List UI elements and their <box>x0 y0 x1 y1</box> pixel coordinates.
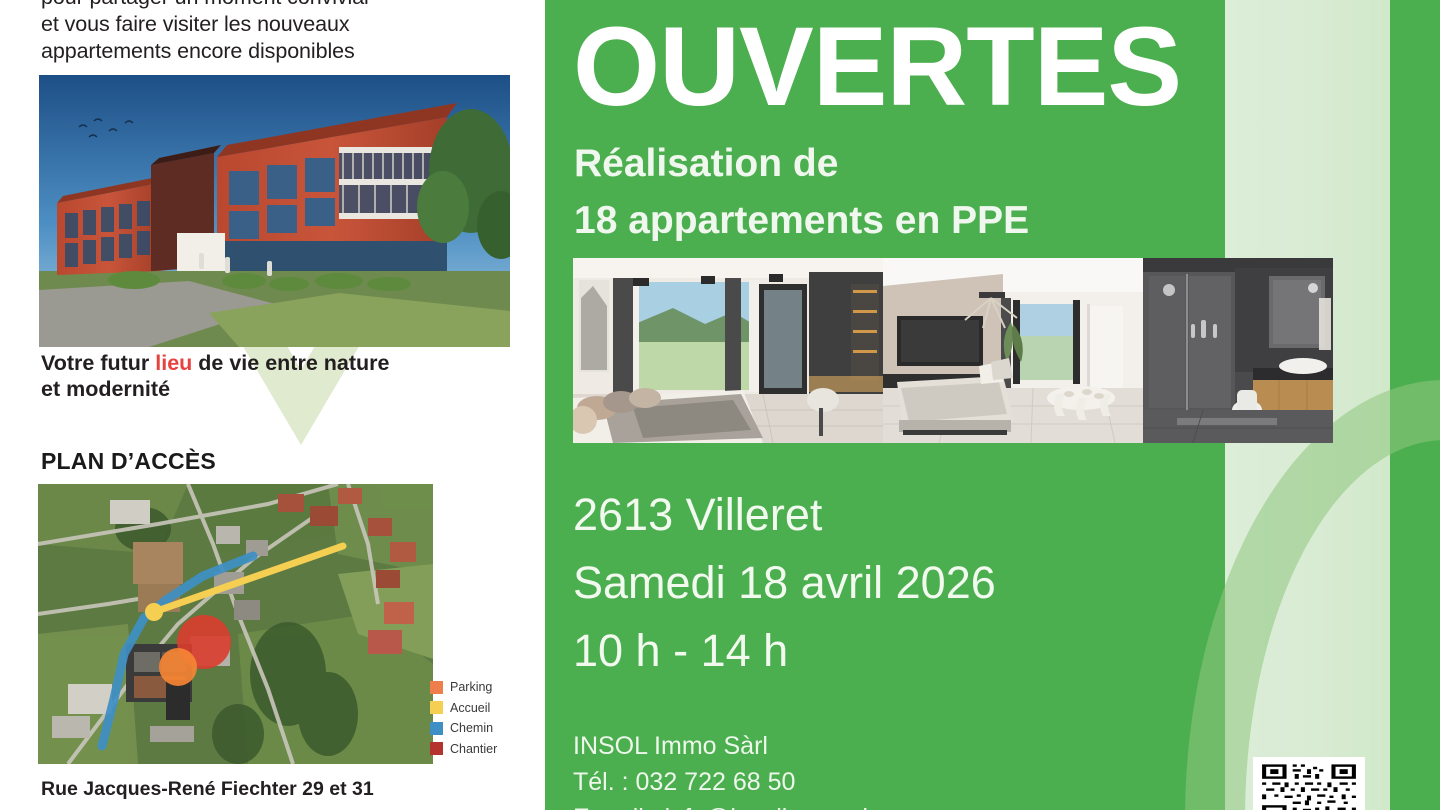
tagline-pre: Votre futur <box>41 351 155 375</box>
map-legend: Parking Accueil Chemin Chantier <box>430 680 540 762</box>
event-location: 2613 Villeret <box>573 481 1373 549</box>
subheadline-line-2: 18 appartements en PPE <box>574 192 1274 249</box>
bathroom-photo <box>1143 258 1333 443</box>
tagline-highlight: lieu <box>155 351 192 375</box>
green-event-panel: PORTES OUVERTES Réalisation de 18 appart… <box>545 0 1440 810</box>
contact-details: INSOL Immo Sàrl Tél. : 032 722 68 50 E-m… <box>573 728 1273 810</box>
section-title-plan-dacces: PLAN D’ACCÈS <box>41 448 216 475</box>
legend-item-parking: Parking <box>430 680 540 694</box>
qr-code-icon <box>1258 762 1360 810</box>
qr-code[interactable] <box>1253 757 1365 810</box>
tagline-post: de vie entre nature <box>192 351 389 375</box>
legend-swatch-parking <box>430 681 443 694</box>
email-address: E-mail : info@insolimmo.ch <box>573 800 1273 810</box>
bedroom-photo <box>573 258 883 443</box>
legend-label-chemin: Chemin <box>450 721 493 735</box>
legend-item-chantier: Chantier <box>430 742 540 756</box>
event-date: Samedi 18 avril 2026 <box>573 549 1373 617</box>
legend-label-chantier: Chantier <box>450 742 497 756</box>
living-room-photo <box>883 258 1143 443</box>
legend-label-accueil: Accueil <box>450 701 490 715</box>
left-info-panel: pour partager un moment convivial et vou… <box>0 0 545 810</box>
subheadline: Réalisation de 18 appartements en PPE <box>574 135 1274 249</box>
subheadline-line-1: Réalisation de <box>574 135 1274 192</box>
tagline: Votre futur lieu de vie entre nature et … <box>41 350 521 402</box>
phone-number: Tél. : 032 722 68 50 <box>573 764 1273 800</box>
intro-line-3: appartements encore disponibles <box>41 38 511 65</box>
intro-line-2: et vous faire visiter les nouveaux <box>41 11 511 38</box>
legend-item-chemin: Chemin <box>430 721 540 735</box>
legend-label-parking: Parking <box>450 680 492 694</box>
building-rendering-photo <box>39 75 510 347</box>
access-map-photo <box>38 484 433 764</box>
tagline-line2: et modernité <box>41 377 170 401</box>
legend-swatch-chantier <box>430 742 443 755</box>
intro-paragraph: pour partager un moment convivial et vou… <box>41 0 511 65</box>
intro-line-1: pour partager un moment convivial <box>41 0 511 11</box>
event-hours: 10 h - 14 h <box>573 617 1373 685</box>
legend-item-accueil: Accueil <box>430 701 540 715</box>
company-name: INSOL Immo Sàrl <box>573 728 1273 764</box>
legend-swatch-accueil <box>430 701 443 714</box>
headline-ouvertes: OUVERTES <box>573 11 1181 123</box>
legend-swatch-chemin <box>430 722 443 735</box>
interior-photo-strip <box>573 258 1333 443</box>
street-address: Rue Jacques-René Fiechter 29 et 31 <box>41 778 541 801</box>
event-details: 2613 Villeret Samedi 18 avril 2026 10 h … <box>573 481 1373 685</box>
